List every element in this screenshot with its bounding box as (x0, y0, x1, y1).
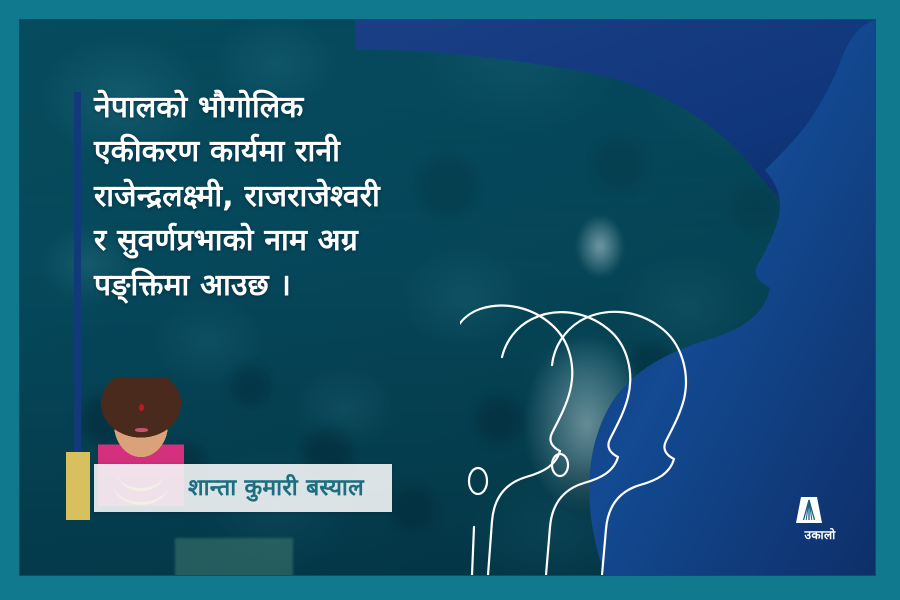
artwork-frame: नेपालको भौगोलिक एकीकरण कार्यमा रानी राजे… (20, 20, 875, 575)
quote-line-1: नेपालको भौगोलिक (94, 86, 564, 130)
mountain-road-icon (793, 494, 825, 524)
author-name: शान्ता कुमारी बस्याल (188, 470, 364, 502)
protest-placard (175, 538, 293, 575)
lips (135, 428, 148, 432)
bindi-mark (139, 404, 144, 411)
quote-line-4: र सुवर्णप्रभाको नाम अग्र (94, 219, 564, 263)
female-profiles-line-art (460, 275, 740, 575)
brand-logo[interactable]: उकालो (793, 494, 847, 543)
gold-accent-block (66, 452, 90, 520)
quote-text: नेपालको भौगोलिक एकीकरण कार्यमा रानी राजे… (94, 86, 564, 308)
quote-card: नेपालको भौगोलिक एकीकरण कार्यमा रानी राजे… (0, 0, 900, 600)
brand-name: उकालो (793, 526, 847, 543)
quote-line-5: पङ्क्तिमा आउछ । (94, 264, 564, 308)
quote-line-2: एकीकरण कार्यमा रानी (94, 130, 564, 174)
quote-line-3: राजेन्द्रलक्ष्मी, राजराजेश्वरी (94, 175, 564, 219)
navy-accent-bar (74, 92, 81, 492)
